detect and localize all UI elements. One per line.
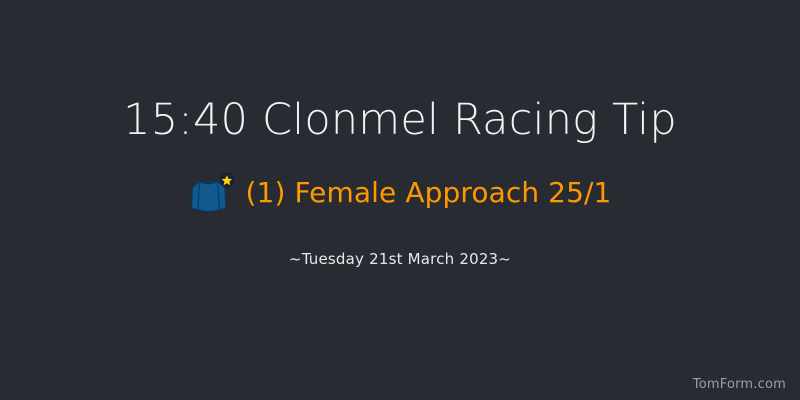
page-title: 15:40 Clonmel Racing Tip xyxy=(123,98,677,143)
tip-selection-row[interactable]: (1) Female Approach 25/1 xyxy=(189,171,612,215)
racing-tip-card: 15:40 Clonmel Racing Tip (1) Female Appr… xyxy=(0,0,800,400)
racing-silk-icon xyxy=(189,171,235,215)
site-watermark: TomForm.com xyxy=(693,377,786,392)
race-date: ~Tuesday 21st March 2023~ xyxy=(289,250,511,268)
tip-selection-label: (1) Female Approach 25/1 xyxy=(246,179,612,207)
